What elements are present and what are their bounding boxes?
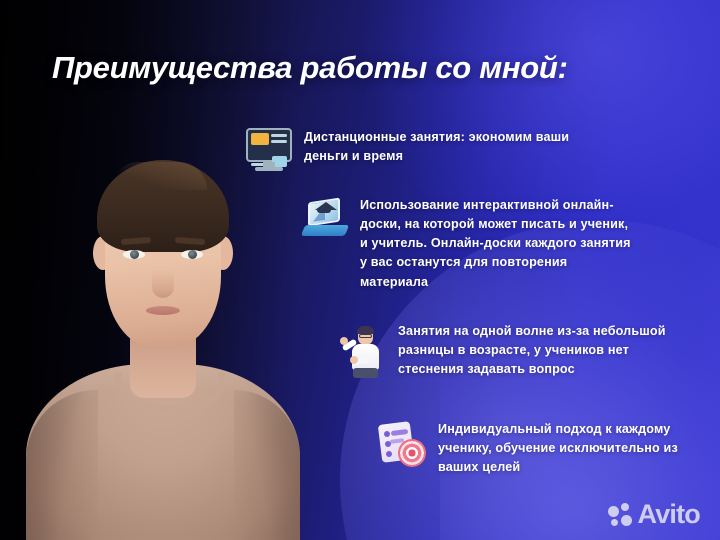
person-pointing-icon xyxy=(342,322,386,382)
document-target-icon xyxy=(378,420,426,468)
desktop-monitor-icon xyxy=(246,128,292,172)
portrait-eye-left xyxy=(123,250,145,259)
feature-item-3: Занятия на одной волне из-за небольшой р… xyxy=(342,322,672,382)
feature-item-2: Использование интерактивной онлайн-доски… xyxy=(302,196,632,292)
portrait-photo xyxy=(18,120,308,540)
page-title: Преимущества работы со мной: xyxy=(52,50,568,86)
portrait-nose xyxy=(152,270,174,298)
avito-watermark: Avito xyxy=(608,501,701,528)
avito-wordmark: Avito xyxy=(638,501,701,528)
portrait-eye-right xyxy=(181,250,203,259)
laptop-graduation-icon xyxy=(302,196,348,244)
feature-item-4: Индивидуальный подход к каждому ученику,… xyxy=(378,420,708,477)
feature-text-4: Индивидуальный подход к каждому ученику,… xyxy=(438,420,708,477)
feature-text-2: Использование интерактивной онлайн-доски… xyxy=(360,196,632,292)
feature-text-1: Дистанционные занятия: экономим ваши ден… xyxy=(304,128,576,166)
feature-text-3: Занятия на одной волне из-за небольшой р… xyxy=(398,322,672,379)
portrait-mouth xyxy=(146,306,180,315)
feature-item-1: Дистанционные занятия: экономим ваши ден… xyxy=(246,128,576,172)
poster: Преимущества работы со мной: Дистанционн… xyxy=(0,0,720,540)
avito-logo-icon xyxy=(608,503,632,527)
portrait-hair xyxy=(97,160,229,252)
